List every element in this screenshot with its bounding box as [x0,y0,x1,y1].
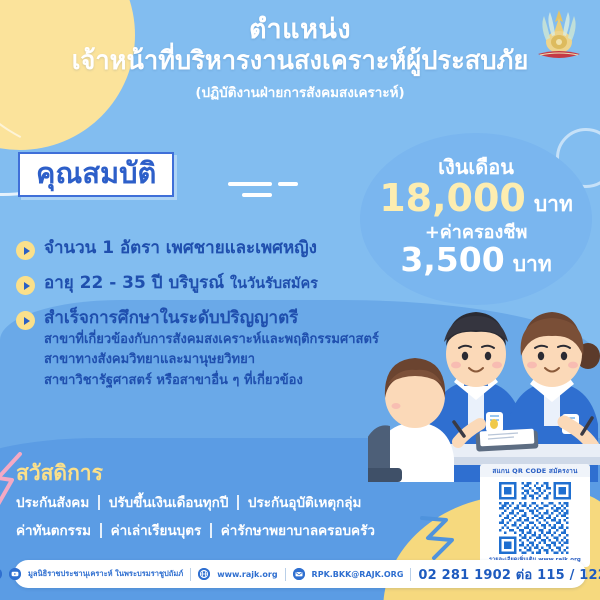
welfare-row-1: ประกันสังคม ปรับขึ้นเงินเดือนทุกปี ประกั… [16,491,486,513]
list-item: จำนวน 1 อัตรา เพศชายและเพศหญิง [16,238,406,260]
position-label: ตำแหน่ง [0,14,600,45]
poster-canvas: ตำแหน่ง เจ้าหน้าที่บริหารงานสงเคราะห์ผู้… [0,0,600,600]
staff-interview-illustration [368,272,600,482]
degree-detail: สาขาทางสังคมวิทยาและมานุษยวิทยา [44,350,379,370]
degree-detail-list: สาขาที่เกี่ยวข้องกับการสังคมสงเคราะห์และ… [44,330,379,390]
footer-separator [285,568,286,581]
welfare-separator [98,495,100,510]
play-bullet-icon [16,276,35,295]
list-item: อายุ 22 - 35 ปี บริบูรณ์ ในวันรับสมัคร [16,273,406,295]
mail-icon [293,568,305,580]
qualification-item-text: สำเร็จการศึกษาในระดับปริญญาตรี [44,308,379,329]
footer-separator [410,568,411,581]
welfare-item: ปรับขึ้นเงินเดือนทุกปี [109,491,229,513]
qr-code-block[interactable]: สแกน QR CODE สมัครงาน [480,464,590,567]
qualification-item-suffix: ในวันรับสมัคร [230,276,318,292]
qualification-item-text: อายุ 22 - 35 ปี บริบูรณ์ ในวันรับสมัคร [44,273,318,294]
welfare-separator [100,523,102,538]
list-item: สำเร็จการศึกษาในระดับปริญญาตรี สาขาที่เก… [16,308,406,391]
email-address[interactable]: RPK.BKK@RAJK.ORG [312,570,404,579]
degree-detail: สาขาวิชารัฐศาสตร์ หรือสาขาอื่น ๆ ที่เกี่… [44,371,379,391]
salary-unit: บาท [534,188,573,221]
qr-code-icon[interactable] [491,482,579,554]
website-url[interactable]: www.rajk.org [217,570,277,579]
decor-dashes [228,182,272,197]
salary-amount: 18,000 [379,179,526,219]
youtube-icon[interactable] [9,568,21,580]
decor-dash-2 [278,182,298,186]
welfare-item: ประกันอุบัติเหตุกลุ่ม [248,491,362,513]
qualification-item-text: จำนวน 1 อัตรา เพศชายและเพศหญิง [44,238,317,259]
page-title: เจ้าหน้าที่บริหารงานสงเคราะห์ผู้ประสบภัย [0,46,600,77]
qr-code-label: สแกน QR CODE สมัครงาน [480,464,590,477]
education-block: สำเร็จการศึกษาในระดับปริญญาตรี สาขาที่เก… [44,308,379,391]
organization-name: มูลนิธิราชประชานุเคราะห์ ในพระบรมราชูปถั… [28,568,183,580]
footer-contact-bar: มูลนิธิราชประชานุเคราะห์ ในพระบรมราชูปถั… [14,560,586,588]
qr-code-card: รายละเอียดเพิ่มเติม www.rajk.org [480,477,590,567]
qualification-list: จำนวน 1 อัตรา เพศชายและเพศหญิง อายุ 22 -… [16,238,406,404]
royal-emblem-icon [532,6,586,70]
salary-amount-row: 18,000 บาท [379,179,573,221]
phone-number: 02 281 1902 ต่อ 115 / 122 [418,564,600,585]
salary-label: เงินเดือน [438,157,514,177]
welfare-item: ค่าทันตกรรม [16,519,91,541]
qualification-item-main: อายุ 22 - 35 ปี บริบูรณ์ [44,273,224,293]
degree-detail: สาขาที่เกี่ยวข้องกับการสังคมสงเคราะห์และ… [44,330,379,350]
welfare-item: ประกันสังคม [16,491,89,513]
tiktok-icon[interactable] [0,568,2,580]
globe-icon [198,568,210,580]
qualification-badge-label: คุณสมบัติ [36,157,156,190]
play-bullet-icon [16,241,35,260]
play-bullet-icon [16,311,35,330]
welfare-title: สวัสดิการ [16,462,486,485]
header-block: ตำแหน่ง เจ้าหน้าที่บริหารงานสงเคราะห์ผู้… [0,14,600,103]
welfare-section: สวัสดิการ ประกันสังคม ปรับขึ้นเงินเดือนท… [16,462,486,541]
welfare-item: ค่ารักษาพยาบาลครอบครัว [221,519,375,541]
qualification-badge: คุณสมบัติ [18,152,174,197]
welfare-item: ค่าเล่าเรียนบุตร [111,519,202,541]
decor-dash-3 [242,193,272,197]
position-subtitle: (ปฏิบัติงานฝ่ายการสังคมสงเคราะห์) [0,81,600,103]
welfare-row-2: ค่าทันตกรรม ค่าเล่าเรียนบุตร ค่ารักษาพยา… [16,519,486,541]
welfare-separator [237,495,239,510]
welfare-separator [210,523,212,538]
decor-dash-1 [228,182,272,186]
footer-separator [190,568,191,581]
